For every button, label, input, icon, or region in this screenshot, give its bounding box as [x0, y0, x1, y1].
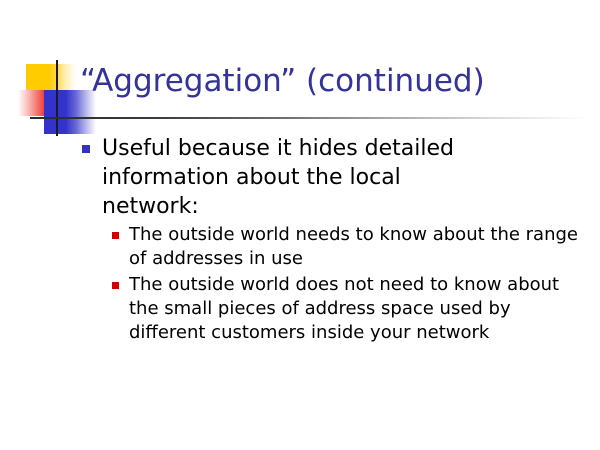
bullet-text: The outside world needs to know about th…: [129, 223, 591, 271]
square-bullet-icon: [112, 232, 119, 239]
square-bullet-icon: [112, 282, 119, 289]
slide-canvas: “Aggregation” (continued) Useful because…: [0, 0, 600, 450]
bullet-text: The outside world does not need to know …: [129, 273, 591, 345]
bullet-item-level2: The outside world needs to know about th…: [0, 223, 600, 271]
slide-body: Useful because it hides detailed informa…: [0, 134, 600, 345]
vertical-line-icon: [56, 60, 58, 136]
square-bullet-icon: [82, 145, 90, 153]
bullet-text: Useful because it hides detailed informa…: [102, 134, 494, 221]
bullet-item-level2: The outside world does not need to know …: [0, 273, 600, 345]
slide-title: “Aggregation” (continued): [80, 62, 580, 100]
bullet-item-level1: Useful because it hides detailed informa…: [0, 134, 600, 221]
title-divider: [32, 117, 588, 119]
